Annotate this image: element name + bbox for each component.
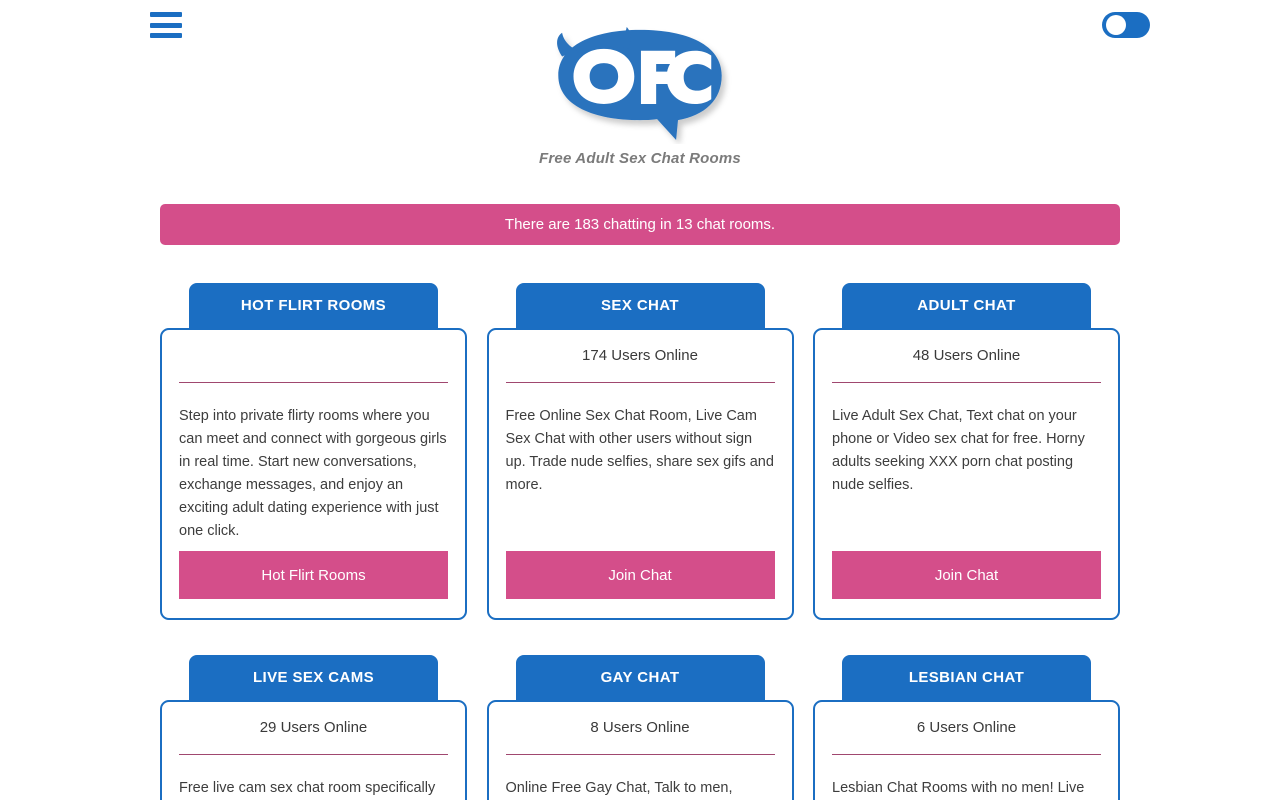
users-online-count: 6 Users Online	[832, 702, 1101, 754]
chat-room-card: ADULT CHAT 48 Users Online Live Adult Se…	[813, 283, 1120, 620]
top-bar	[0, 0, 1280, 52]
card-description: Lesbian Chat Rooms with no men! Live Gir…	[832, 777, 1101, 800]
card-divider	[832, 754, 1101, 755]
hamburger-bar-2	[150, 23, 182, 28]
hamburger-menu-icon[interactable]	[150, 12, 182, 38]
card-description: Step into private flirty rooms where you…	[179, 405, 448, 551]
card-body: 6 Users Online Lesbian Chat Rooms with n…	[813, 700, 1120, 800]
join-chat-button[interactable]: Join Chat	[506, 551, 775, 599]
card-description: Free live cam sex chat room specifically…	[179, 777, 448, 800]
chat-room-grid: HOT FLIRT ROOMS Step into private flirty…	[160, 283, 1120, 800]
toggle-knob	[1106, 15, 1126, 35]
users-online-count	[179, 330, 448, 382]
card-body: 174 Users Online Free Online Sex Chat Ro…	[487, 328, 794, 620]
status-banner: There are 183 chatting in 13 chat rooms.	[160, 204, 1120, 245]
join-chat-button[interactable]: Join Chat	[832, 551, 1101, 599]
theme-toggle-switch[interactable]	[1102, 12, 1150, 38]
chat-room-card: LIVE SEX CAMS 29 Users Online Free live …	[160, 655, 467, 800]
chat-room-card: LESBIAN CHAT 6 Users Online Lesbian Chat…	[813, 655, 1120, 800]
hamburger-bar-3	[150, 33, 182, 38]
chat-room-card: GAY CHAT 8 Users Online Online Free Gay …	[487, 655, 794, 800]
chat-room-card: SEX CHAT 174 Users Online Free Online Se…	[487, 283, 794, 620]
users-online-count: 48 Users Online	[832, 330, 1101, 382]
card-divider	[179, 754, 448, 755]
card-description: Online Free Gay Chat, Talk to men, twink…	[506, 777, 775, 800]
card-divider	[506, 754, 775, 755]
chat-room-card: HOT FLIRT ROOMS Step into private flirty…	[160, 283, 467, 620]
hamburger-bar-1	[150, 12, 182, 17]
card-divider	[832, 382, 1101, 383]
site-tagline: Free Adult Sex Chat Rooms	[0, 150, 1280, 167]
card-description: Live Adult Sex Chat, Text chat on your p…	[832, 405, 1101, 551]
users-online-count: 29 Users Online	[179, 702, 448, 754]
card-body: 8 Users Online Online Free Gay Chat, Tal…	[487, 700, 794, 800]
users-online-count: 174 Users Online	[506, 330, 775, 382]
card-divider	[506, 382, 775, 383]
join-chat-button[interactable]: Hot Flirt Rooms	[179, 551, 448, 599]
card-body: 48 Users Online Live Adult Sex Chat, Tex…	[813, 328, 1120, 620]
card-description: Free Online Sex Chat Room, Live Cam Sex …	[506, 405, 775, 551]
card-body: Step into private flirty rooms where you…	[160, 328, 467, 620]
users-online-count: 8 Users Online	[506, 702, 775, 754]
card-body: 29 Users Online Free live cam sex chat r…	[160, 700, 467, 800]
card-divider	[179, 382, 448, 383]
